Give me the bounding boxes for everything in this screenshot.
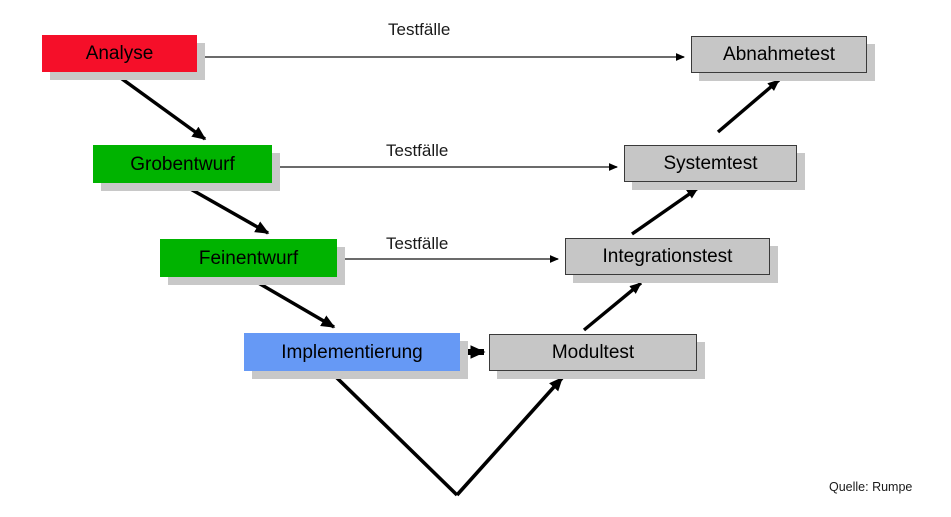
connector-implementierung-to-vertex [336, 377, 457, 495]
connector-integrationstest-to-systemtest [632, 188, 698, 234]
connector-vertex-to-modultest [457, 378, 562, 495]
edge-label-testfaelle-1: Testfälle [388, 21, 450, 38]
node-implementierung[interactable]: Implementierung [244, 333, 460, 371]
node-modultest[interactable]: Modultest [489, 334, 697, 371]
node-grobentwurf-label: Grobentwurf [130, 155, 235, 174]
node-analyse[interactable]: Analyse [42, 35, 197, 72]
node-feinentwurf[interactable]: Feinentwurf [160, 239, 337, 277]
node-grobentwurf[interactable]: Grobentwurf [93, 145, 272, 183]
connector-grobentwurf-to-feinentwurf [187, 187, 268, 233]
connector-modultest-to-integrationstest [584, 283, 641, 330]
source-note: Quelle: Rumpe [829, 481, 912, 494]
node-systemtest[interactable]: Systemtest [624, 145, 797, 182]
node-integrationstest-label: Integrationstest [603, 247, 733, 266]
node-systemtest-label: Systemtest [664, 154, 758, 173]
node-analyse-label: Analyse [86, 44, 154, 63]
node-implementierung-label: Implementierung [281, 343, 423, 362]
source-note-text: Quelle: Rumpe [829, 480, 912, 494]
connector-systemtest-to-abnahmetest [718, 80, 779, 132]
node-feinentwurf-label: Feinentwurf [199, 249, 298, 268]
connector-analyse-to-grobentwurf [118, 76, 205, 139]
node-modultest-label: Modultest [552, 343, 634, 362]
v-model-diagram: Analyse Grobentwurf Feinentwurf Implemen… [0, 0, 951, 517]
node-abnahmetest[interactable]: Abnahmetest [691, 36, 867, 73]
node-integrationstest[interactable]: Integrationstest [565, 238, 770, 275]
node-abnahmetest-label: Abnahmetest [723, 45, 835, 64]
edge-label-testfaelle-2-text: Testfälle [386, 141, 448, 160]
edge-label-testfaelle-3: Testfälle [386, 235, 448, 252]
edge-label-testfaelle-2: Testfälle [386, 142, 448, 159]
edge-label-testfaelle-3-text: Testfälle [386, 234, 448, 253]
edge-label-testfaelle-1-text: Testfälle [388, 20, 450, 39]
connector-feinentwurf-to-implementierung [255, 281, 334, 327]
